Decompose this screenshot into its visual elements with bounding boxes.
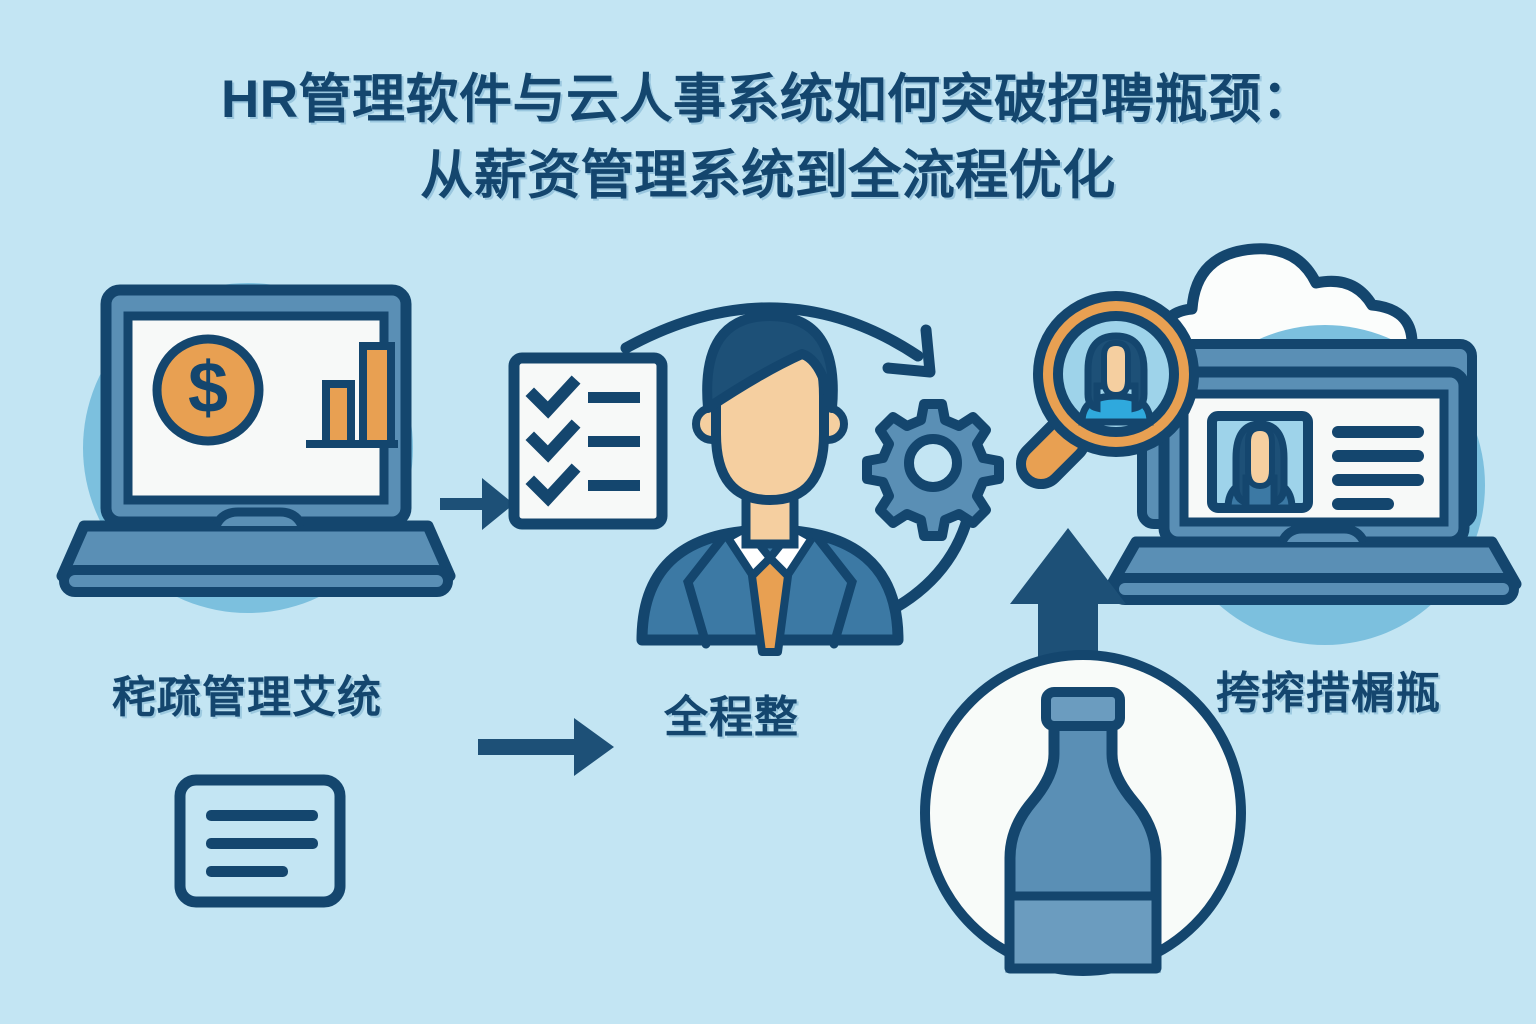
necktie <box>752 558 788 652</box>
arrow-right-long-glyph <box>478 718 614 776</box>
profile-line-2 <box>1332 450 1424 462</box>
caption-payroll: 秺疏管理艾统 <box>112 672 382 724</box>
laptop-foot <box>64 570 448 592</box>
profile-line-1 <box>1332 426 1424 438</box>
arrow-right-glyph <box>440 478 514 530</box>
bottle-label-band <box>1010 896 1156 968</box>
card-line-1 <box>206 810 318 821</box>
laptop-trackpad <box>216 512 302 526</box>
bottleneck-bottle-icon <box>918 648 1248 978</box>
infographic-canvas: HR管理软件与云人事系统如何突破招聘瓶颈： 从薪资管理系统到全流程优化 $ <box>0 0 1536 1024</box>
card-line-3 <box>206 866 288 877</box>
card-line-2 <box>206 838 318 849</box>
bottle-collar <box>1046 692 1120 726</box>
bar-baseline <box>306 440 398 448</box>
title-line-1: HR管理软件与云人事系统如何突破招聘瓶颈： <box>0 62 1536 138</box>
caption-bottleneck: 挎搾措榍瓶 <box>1216 668 1441 720</box>
page-title: HR管理软件与云人事系统如何突破招聘瓶颈： 从薪资管理系统到全流程优化 <box>0 62 1536 214</box>
bar-1 <box>326 384 351 444</box>
laptop-foot-right <box>1114 578 1514 600</box>
caption-process: 全程整 <box>664 692 799 744</box>
gear-hub <box>909 439 957 487</box>
lens-avatar-face <box>1104 343 1128 395</box>
bar-2 <box>363 346 391 444</box>
laptop-payroll-chart-icon: $ <box>58 258 478 628</box>
profile-line-4 <box>1332 498 1394 510</box>
profile-line-3 <box>1332 474 1424 486</box>
dollar-symbol: $ <box>188 348 228 428</box>
record-card-icon <box>172 772 352 912</box>
arrow-caption-flow <box>478 712 618 782</box>
title-line-2: 从薪资管理系统到全流程优化 <box>0 138 1536 214</box>
avatar-face <box>1248 428 1272 486</box>
gear-body <box>867 404 999 536</box>
magnifier-avatar-icon <box>1008 282 1218 512</box>
laptop-trackpad-right <box>1282 529 1364 542</box>
gear-icon <box>868 398 998 528</box>
